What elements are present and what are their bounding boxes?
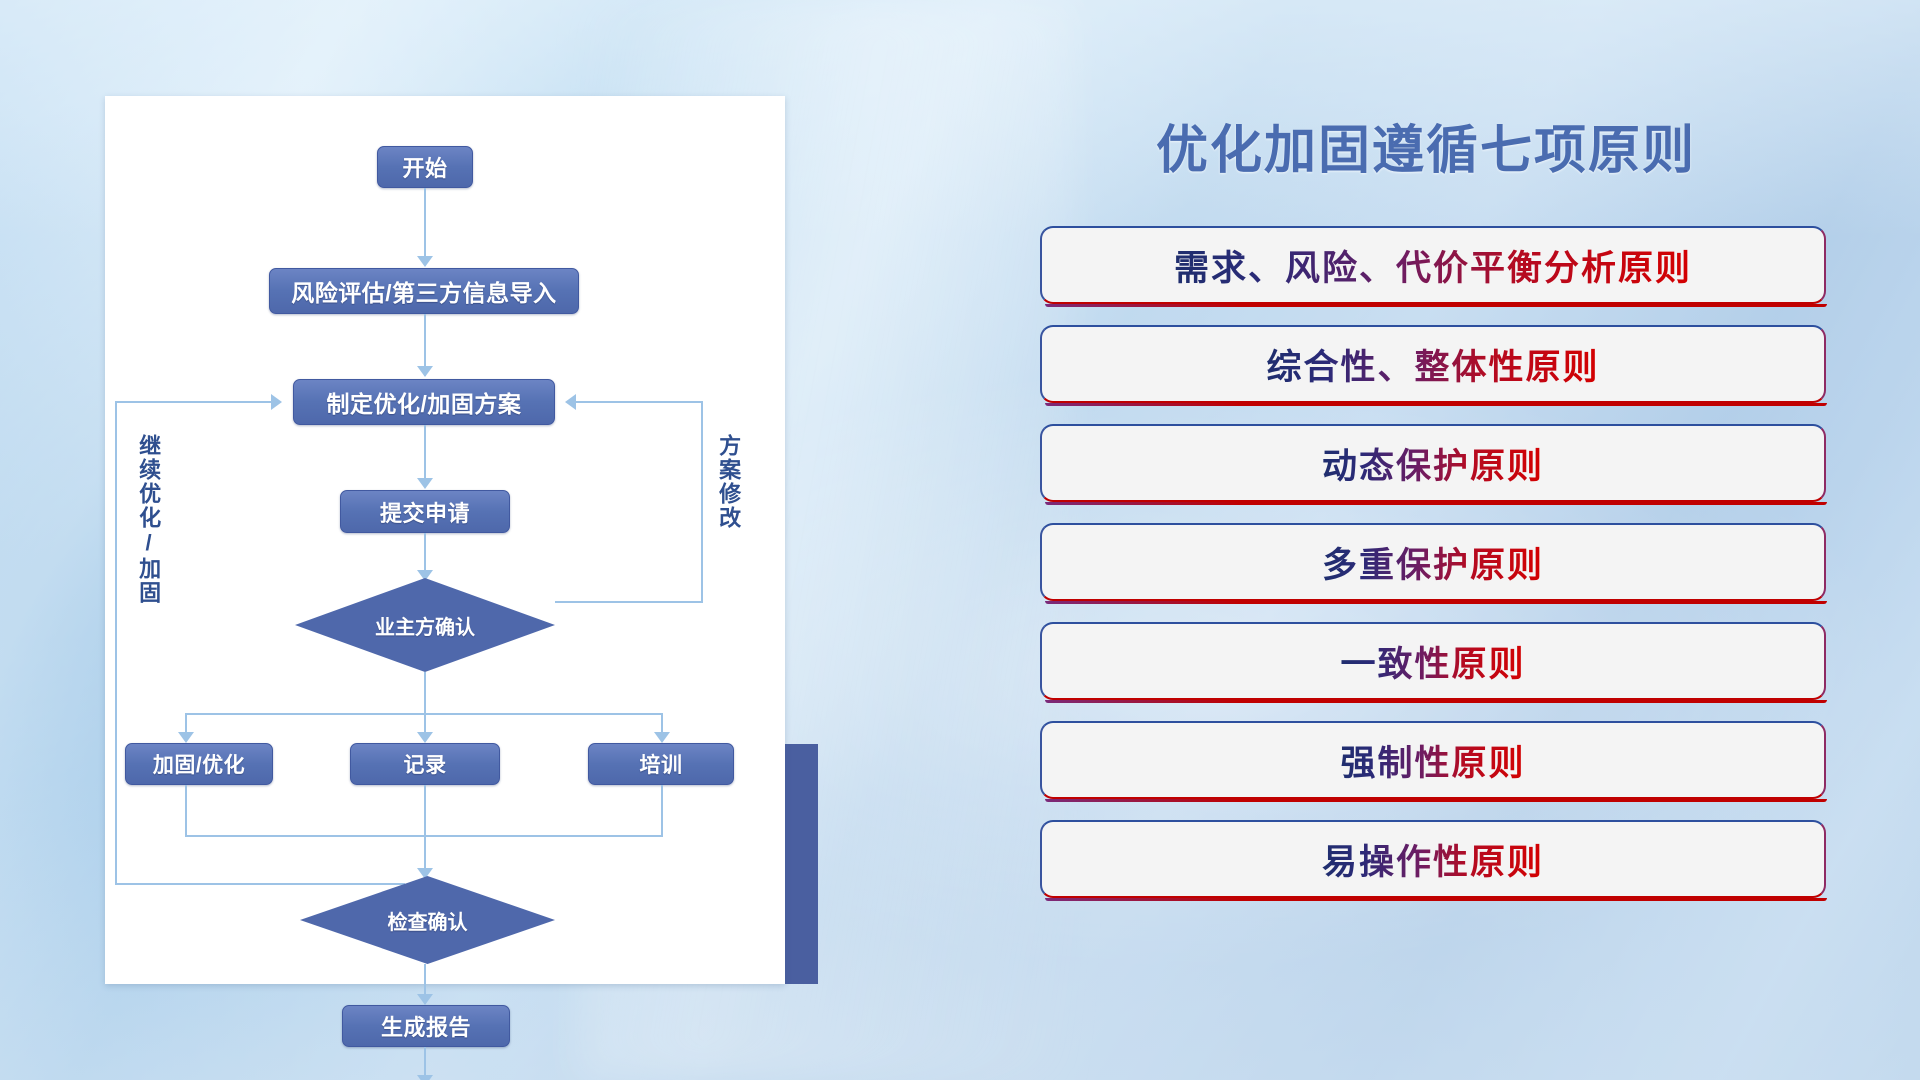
principle-item-3-label: 动态保护原则 <box>1322 438 1544 489</box>
principle-item-5[interactable]: 一致性原则 <box>1040 622 1826 700</box>
connector-right-loop-bottom <box>555 601 703 603</box>
flow-label-continue-optimize: 继续优化/加固 <box>137 434 160 605</box>
flow-node-submit-application-label: 提交申请 <box>380 496 470 528</box>
flow-decision-owner-confirm[interactable]: 业主方确认 <box>295 578 555 672</box>
principle-item-1-label: 需求、风险、代价平衡分析原则 <box>1174 240 1692 291</box>
flowchart-panel: 开始 风险评估/第三方信息导入 制定优化/加固方案 <box>0 0 1020 1080</box>
arrowhead-right-loop-into-plan <box>565 394 576 410</box>
flow-node-make-plan[interactable]: 制定优化/加固方案 <box>293 379 555 425</box>
flow-node-generate-report-label: 生成报告 <box>381 1010 471 1042</box>
flowchart-card: 开始 风险评估/第三方信息导入 制定优化/加固方案 <box>105 96 785 984</box>
flow-decision-owner-confirm-label: 业主方确认 <box>375 611 475 640</box>
principles-panel: 优化加固遵循七项原则 需求、风险、代价平衡分析原则 综合性、整体性原则 动态保护… <box>1020 0 1920 1080</box>
principle-item-3[interactable]: 动态保护原则 <box>1040 424 1826 502</box>
principle-item-4[interactable]: 多重保护原则 <box>1040 523 1826 601</box>
page-title: 优化加固遵循七项原则 <box>1156 108 1696 183</box>
flow-decision-check-confirm[interactable]: 检查确认 <box>300 876 555 964</box>
connector-train-down <box>661 785 663 837</box>
flow-node-risk-assessment-label: 风险评估/第三方信息导入 <box>291 274 556 308</box>
connector-right-loop-top <box>575 401 703 403</box>
flow-decision-check-confirm-label: 检查确认 <box>388 906 468 935</box>
flow-node-start-label: 开始 <box>402 151 447 183</box>
flow-node-record[interactable]: 记录 <box>350 743 500 785</box>
principle-item-5-label: 一致性原则 <box>1340 636 1525 687</box>
connector-branch-bus <box>185 713 663 715</box>
arrowhead-to-reinforce <box>178 732 194 743</box>
flow-node-risk-assessment[interactable]: 风险评估/第三方信息导入 <box>269 268 579 314</box>
principle-item-6[interactable]: 强制性原则 <box>1040 721 1826 799</box>
flow-node-training[interactable]: 培训 <box>588 743 734 785</box>
connector-reinforce-down <box>185 785 187 837</box>
arrowhead-check-to-report <box>417 994 433 1005</box>
principle-item-2-label: 综合性、整体性原则 <box>1266 339 1599 390</box>
principle-item-1[interactable]: 需求、风险、代价平衡分析原则 <box>1040 226 1826 304</box>
flow-label-plan-revision: 方案修改 <box>717 434 740 530</box>
connector-owner-down <box>424 672 426 738</box>
principle-item-7-label: 易操作性原则 <box>1322 834 1544 885</box>
flow-node-generate-report[interactable]: 生成报告 <box>342 1005 510 1047</box>
principle-item-7[interactable]: 易操作性原则 <box>1040 820 1826 898</box>
arrowhead-report-to-end <box>417 1075 433 1080</box>
flow-node-submit-application[interactable]: 提交申请 <box>340 490 510 533</box>
principle-item-2[interactable]: 综合性、整体性原则 <box>1040 325 1826 403</box>
connector-left-loop-top <box>115 401 273 403</box>
flow-node-training-label: 培训 <box>640 749 683 779</box>
connector-record-down-to-check <box>424 785 426 878</box>
arrowhead-plan-to-submit <box>417 478 433 489</box>
flow-node-reinforce-optimize[interactable]: 加固/优化 <box>125 743 273 785</box>
connector-right-loop-vertical <box>701 402 703 602</box>
arrowhead-to-record <box>417 732 433 743</box>
flow-node-record-label: 记录 <box>404 749 447 779</box>
arrowhead-risk-to-plan <box>417 366 433 377</box>
flow-node-make-plan-label: 制定优化/加固方案 <box>327 385 522 419</box>
flow-node-start[interactable]: 开始 <box>377 146 473 188</box>
arrowhead-left-loop-into-plan <box>271 394 282 410</box>
connector-left-loop-vertical <box>115 402 117 884</box>
connector-start-to-risk <box>424 188 426 264</box>
arrowhead-to-train <box>654 732 670 743</box>
connector-left-loop-bottom <box>115 883 405 885</box>
principles-list: 需求、风险、代价平衡分析原则 综合性、整体性原则 动态保护原则 多重保护原则 一… <box>1020 226 1920 919</box>
arrowhead-start-to-risk <box>417 256 433 267</box>
flowchart-canvas: 开始 风险评估/第三方信息导入 制定优化/加固方案 <box>105 96 785 984</box>
principle-item-4-label: 多重保护原则 <box>1322 537 1544 588</box>
flow-node-reinforce-optimize-label: 加固/优化 <box>153 749 245 779</box>
principle-item-6-label: 强制性原则 <box>1340 735 1525 786</box>
